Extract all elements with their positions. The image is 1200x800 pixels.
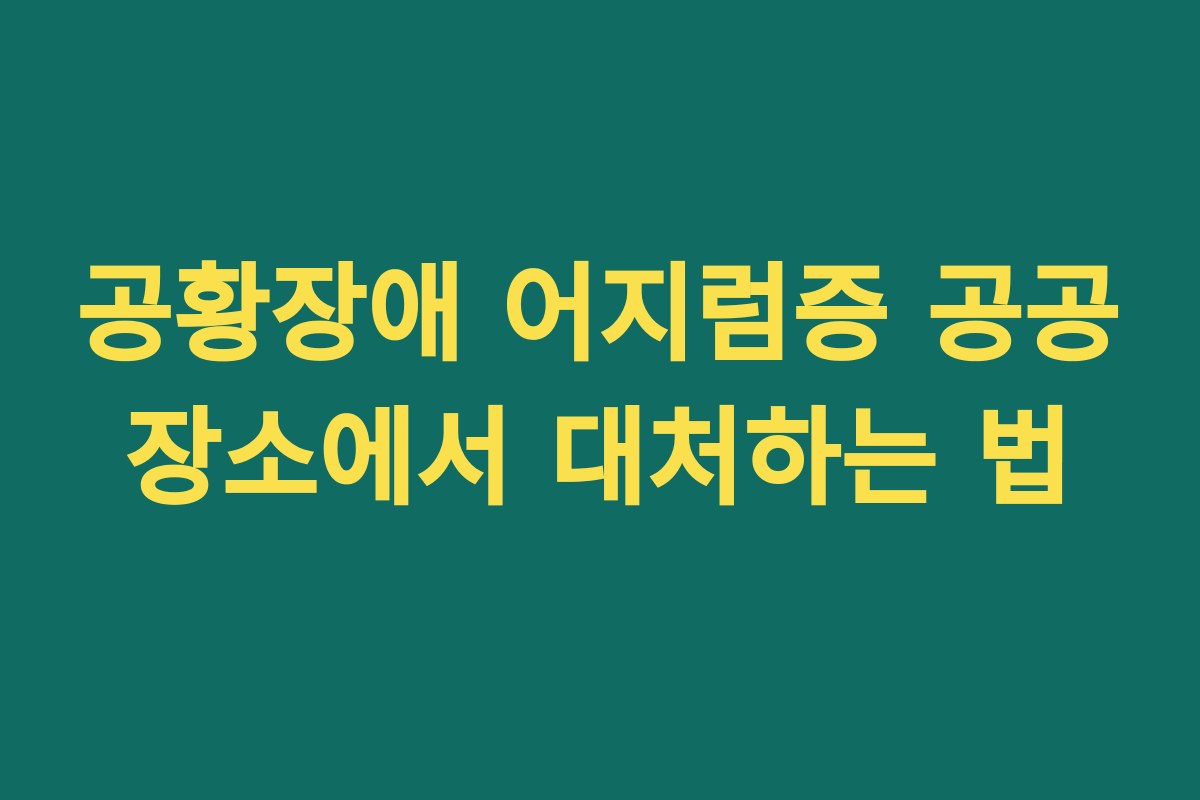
headline-line-1: 공황장애 어지럼증 공공 <box>40 243 1160 387</box>
title-card-banner: 공황장애 어지럼증 공공 장소에서 대처하는 법 <box>0 0 1200 800</box>
headline-block: 공황장애 어지럼증 공공 장소에서 대처하는 법 <box>0 243 1200 530</box>
headline-line-2: 장소에서 대처하는 법 <box>40 387 1160 531</box>
